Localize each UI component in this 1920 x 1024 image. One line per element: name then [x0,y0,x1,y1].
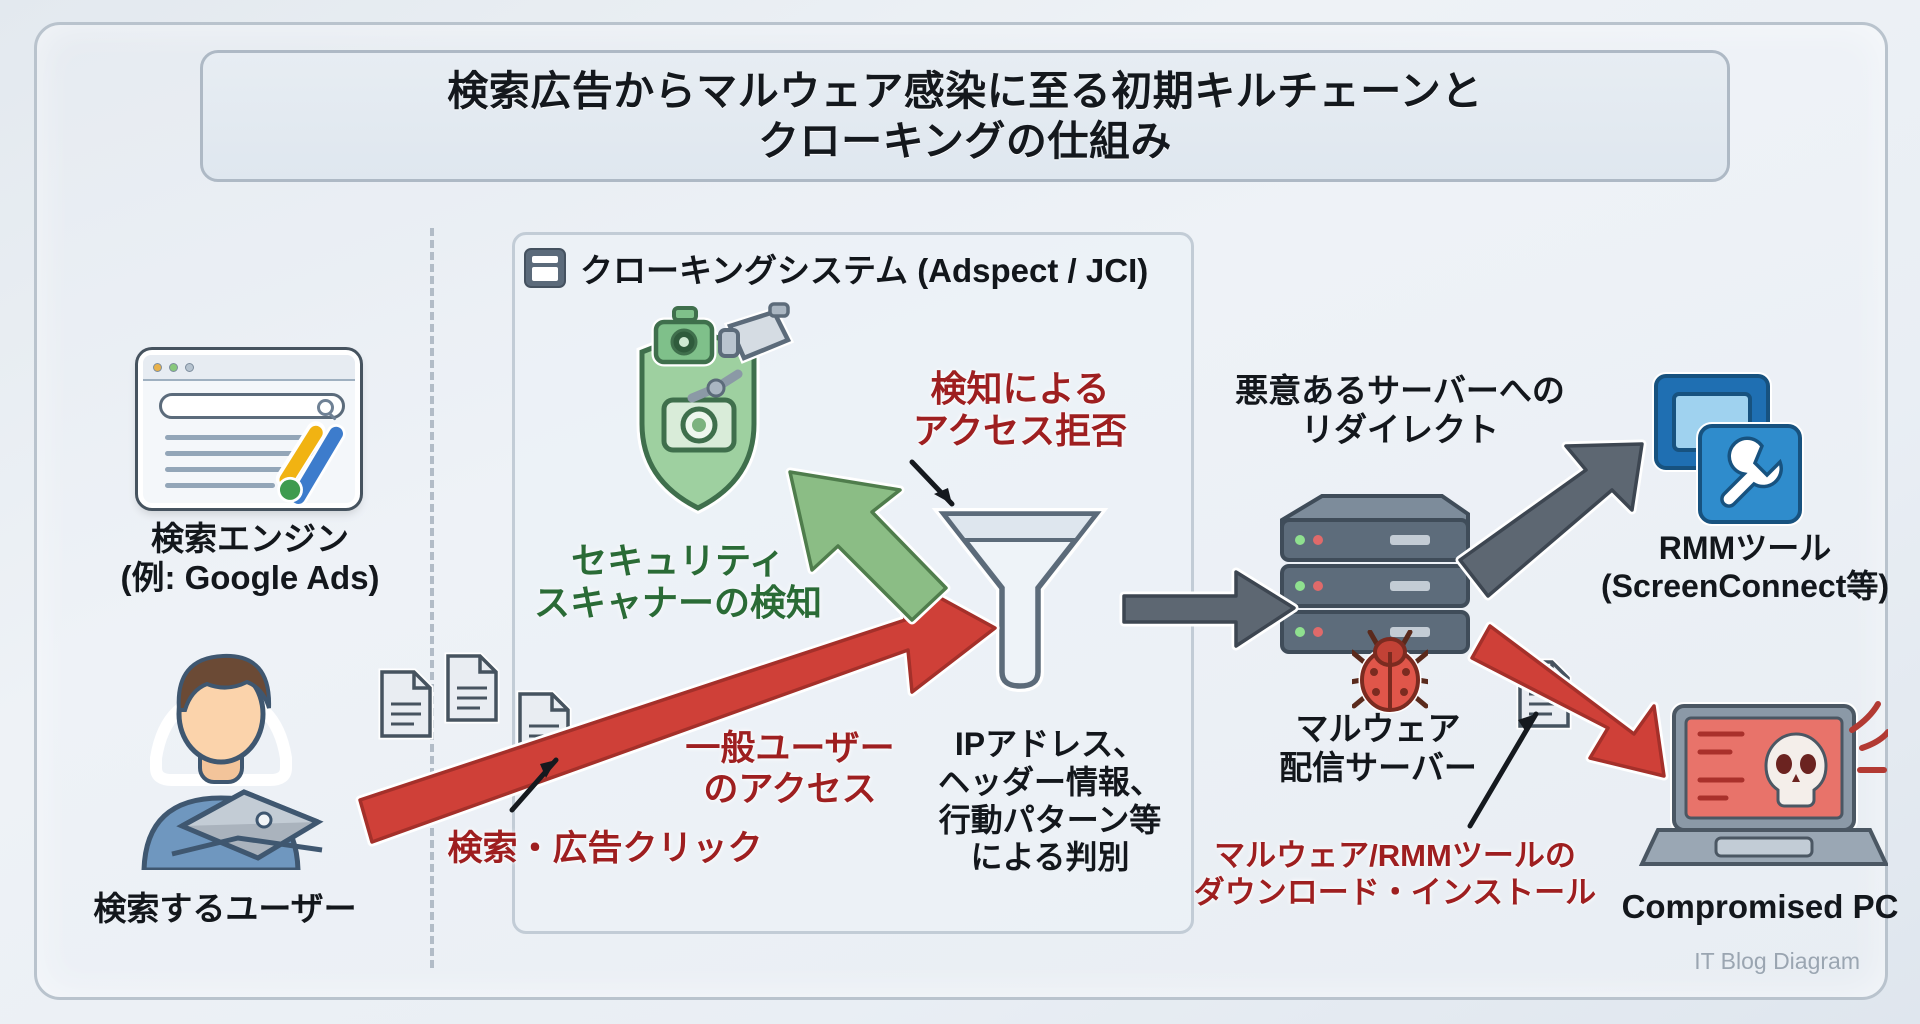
rmm-tool-label: RMMツール (ScreenConnect等) [1580,530,1910,606]
page-title: 検索広告からマルウェア感染に至る初期キルチェーンと クローキングの仕組み [447,66,1482,166]
diagram-canvas: 検索広告からマルウェア感染に至る初期キルチェーンと クローキングの仕組み クロー… [0,0,1920,1024]
browser-dot-1 [153,363,162,372]
malware-server-label: マルウェア 配信サーバー [1218,710,1538,788]
redirect-label: 悪意あるサーバーへの リダイレクト [1200,372,1600,450]
normal-user-access-label: 一般ユーザー のアクセス [660,728,920,811]
cloaking-system-label: クローキングシステム (Adspect / JCI) [580,244,1148,292]
searching-user-label: 検索するユーザー [60,890,390,929]
browser-text-line [165,483,275,488]
watermark: IT Blog Diagram [1600,948,1860,975]
window-icon [524,248,566,288]
shield-icon [570,292,820,522]
access-denied-label: 検知による アクセス拒否 [870,368,1170,453]
funnel-icon [930,500,1110,715]
discrimination-criteria-label: IPアドレス、 ヘッダー情報、 行動パターン等 による判別 [900,726,1200,877]
security-scanner-label: セキュリティ スキャナーの検知 [508,540,848,625]
person-with-laptop-icon [96,640,346,870]
title-line-2: クローキングの仕組み [447,116,1482,166]
browser-dot-3 [185,363,194,372]
document-icon [378,668,434,740]
browser-titlebar [143,355,355,381]
cloaking-system-header: クローキングシステム (Adspect / JCI) [512,240,1212,296]
document-icon [444,652,500,724]
compromised-pc-label: Compromised PC [1600,888,1920,927]
search-ad-click-label: 検索・広告クリック [420,828,790,869]
bug-icon [1352,630,1428,714]
remote-desktop-wrench-icon [1640,368,1810,528]
google-ads-icon [268,418,360,510]
document-icon [516,690,572,762]
compromised-laptop-skull-icon [1638,700,1888,890]
browser-dot-2 [169,363,178,372]
download-install-label: マルウェア/RMMツールの ダウンロード・インストール [1180,838,1610,911]
search-engine-label: 検索エンジン (例: Google Ads) [70,520,430,598]
title-line-1: 検索広告からマルウェア感染に至る初期キルチェーンと [447,66,1482,116]
search-icon [317,399,334,416]
title-plate: 検索広告からマルウェア感染に至る初期キルチェーンと クローキングの仕組み [200,50,1730,182]
browser-search-field [159,393,345,419]
